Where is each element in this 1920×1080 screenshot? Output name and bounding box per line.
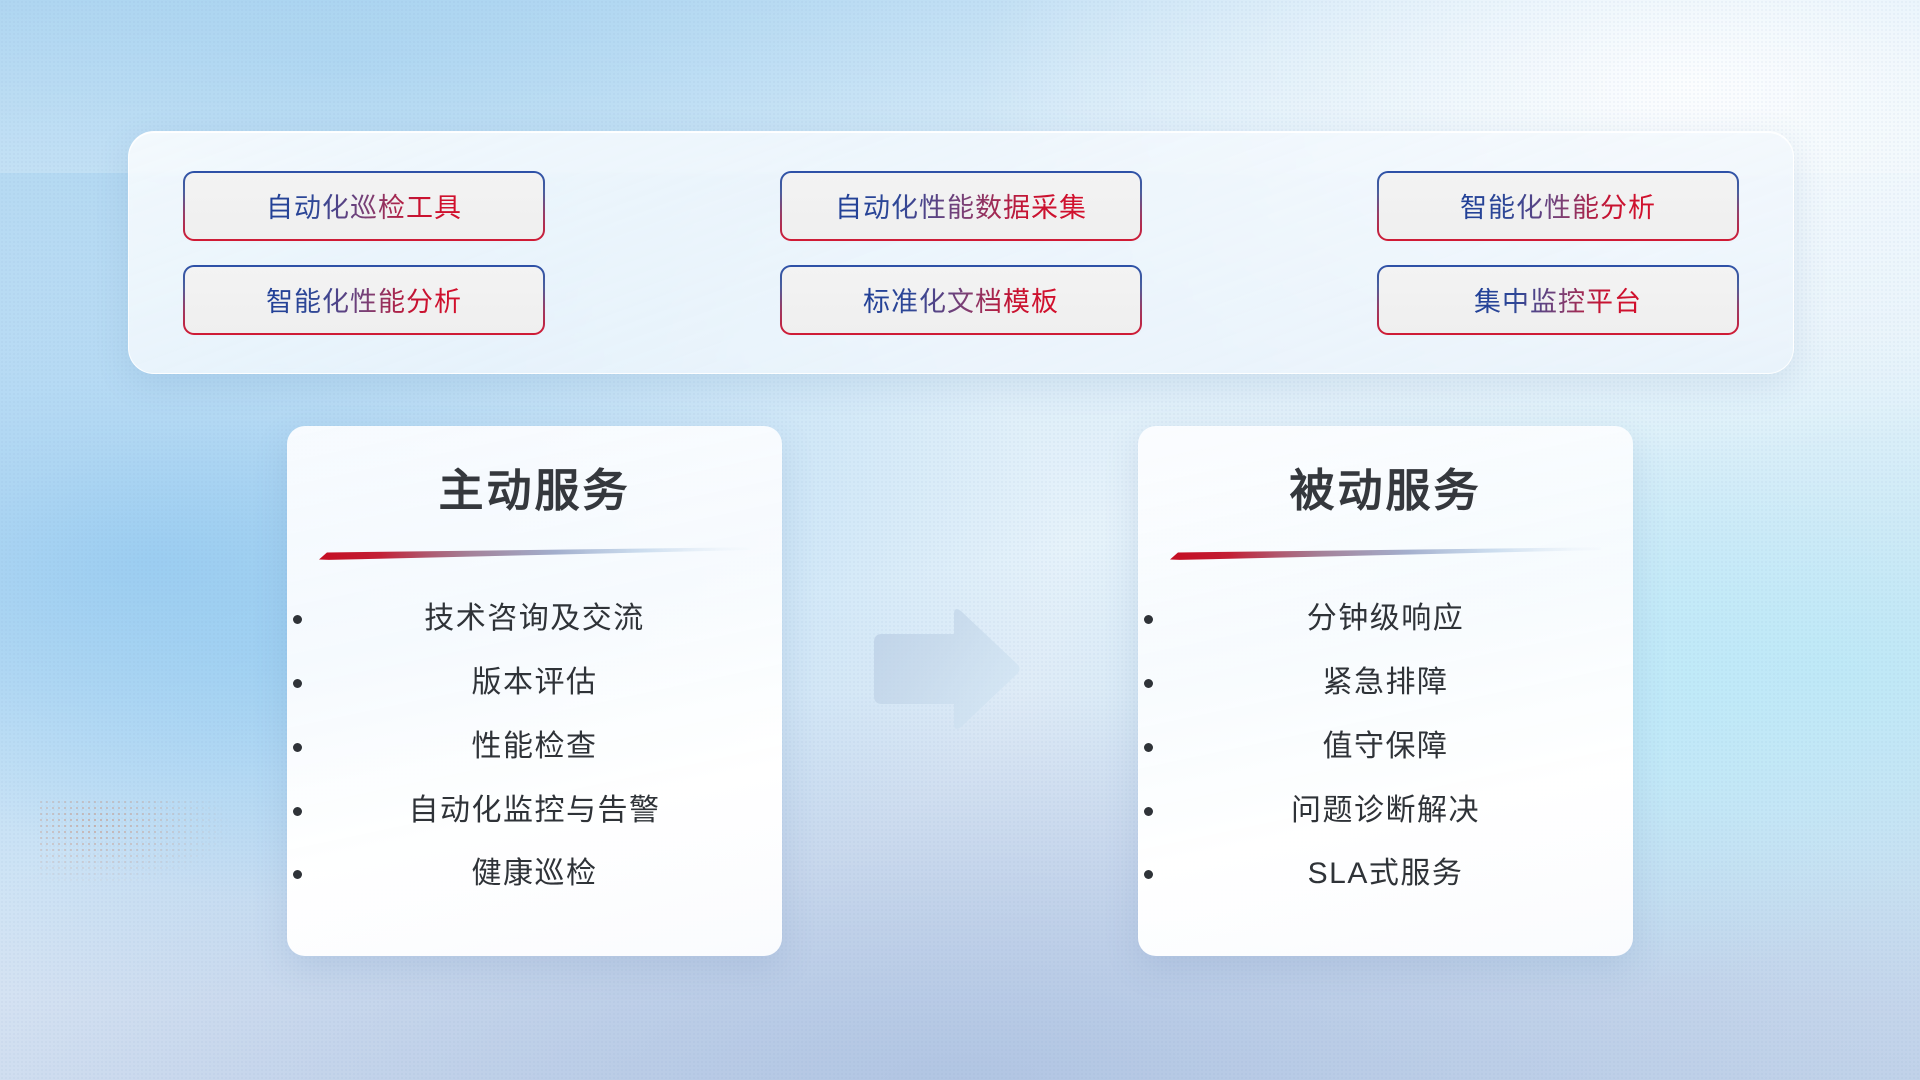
- list-item: SLA式服务: [1168, 856, 1603, 892]
- capability-pill-standardized-document-template[interactable]: 标准化文档模板: [782, 267, 1140, 333]
- card-list-passive: 分钟级响应 紧急排障 值守保障 问题诊断解决 SLA式服务: [1168, 560, 1603, 931]
- capability-pill-label: 智能化性能分析: [1460, 186, 1656, 225]
- capability-row-2: 智能化性能分析 标准化文档模板 集中监控平台: [185, 267, 1737, 333]
- service-card-active: 主动服务 技术咨询及交流 版本评估 性能检查 自动化监控与告警 健康巡检: [287, 426, 782, 956]
- card-list-active: 技术咨询及交流 版本评估 性能检查 自动化监控与告警 健康巡检: [317, 560, 752, 931]
- capability-pill-label: 智能化性能分析: [266, 280, 462, 319]
- background-warm-dot-accent: [38, 799, 230, 885]
- arrow-right-icon: [866, 608, 1022, 730]
- list-item: 性能检查: [317, 729, 752, 765]
- card-title-divider: [319, 546, 750, 560]
- card-title-active: 主动服务: [317, 466, 752, 516]
- capability-pill-automated-performance-data-collection[interactable]: 自动化性能数据采集: [782, 173, 1140, 239]
- capability-pill-label: 标准化文档模板: [863, 280, 1059, 319]
- capability-row-1: 自动化巡检工具 自动化性能数据采集 智能化性能分析: [185, 173, 1737, 239]
- capability-pill-label: 集中监控平台: [1474, 280, 1642, 319]
- capability-pill-centralized-monitoring-platform[interactable]: 集中监控平台: [1379, 267, 1737, 333]
- capability-panel: 自动化巡检工具 自动化性能数据采集 智能化性能分析 智能化性能分析 标准化文档模…: [128, 131, 1794, 374]
- list-item: 技术咨询及交流: [317, 601, 752, 637]
- arrow-right-shape: [866, 608, 1022, 730]
- capability-pill-label: 自动化巡检工具: [266, 186, 462, 225]
- list-item: 值守保障: [1168, 729, 1603, 765]
- list-item: 版本评估: [317, 665, 752, 701]
- capability-pill-label: 自动化性能数据采集: [835, 186, 1087, 225]
- list-item: 分钟级响应: [1168, 601, 1603, 637]
- list-item: 问题诊断解决: [1168, 793, 1603, 829]
- list-item: 紧急排障: [1168, 665, 1603, 701]
- card-title-divider: [1170, 546, 1601, 560]
- service-card-passive: 被动服务 分钟级响应 紧急排障 值守保障 问题诊断解决 SLA式服务: [1138, 426, 1633, 956]
- capability-pill-automated-inspection-tool[interactable]: 自动化巡检工具: [185, 173, 543, 239]
- capability-pill-intelligent-performance-analysis-2[interactable]: 智能化性能分析: [185, 267, 543, 333]
- list-item: 自动化监控与告警: [317, 793, 752, 829]
- list-item: 健康巡检: [317, 856, 752, 892]
- card-title-passive: 被动服务: [1168, 466, 1603, 516]
- capability-pill-intelligent-performance-analysis[interactable]: 智能化性能分析: [1379, 173, 1737, 239]
- divider-shape-icon: [319, 546, 750, 560]
- divider-shape-icon: [1170, 546, 1601, 560]
